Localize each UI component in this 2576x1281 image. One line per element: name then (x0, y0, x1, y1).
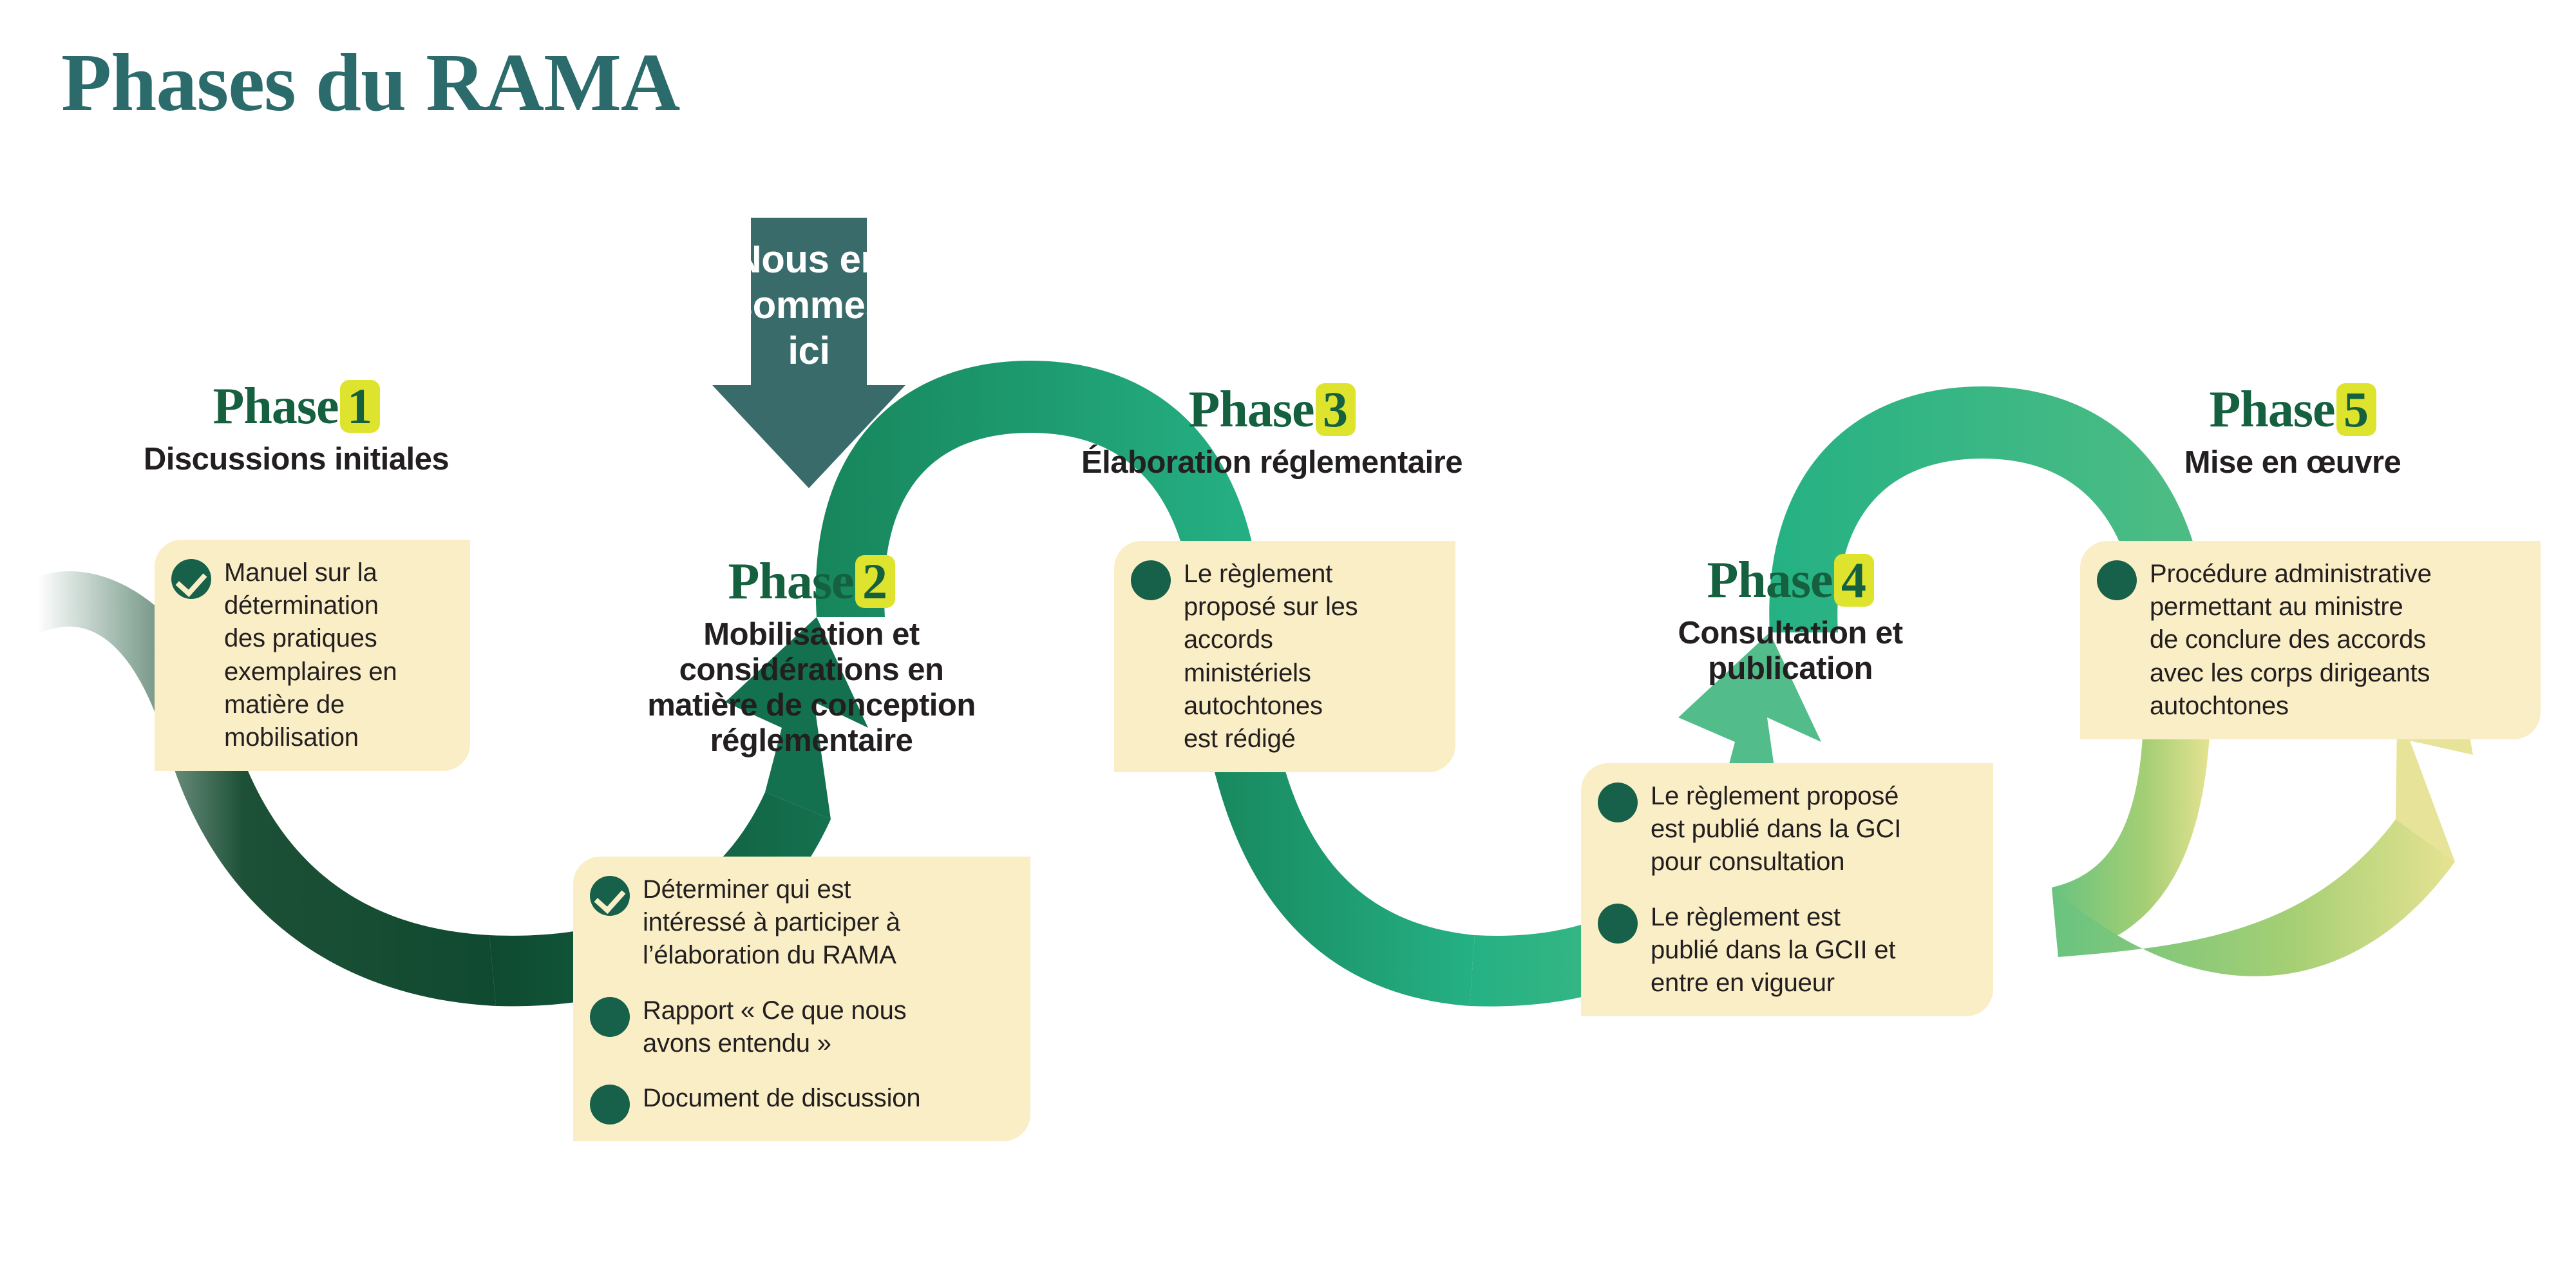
phase-heading-5: Phase 5 Mise en œuvre (2067, 383, 2518, 480)
bullet-text: Déterminer qui est intéressé à participe… (643, 873, 900, 973)
list-item: Le règlement proposé sur les accords min… (1131, 558, 1436, 755)
phase-number-4: 4 (1841, 555, 1866, 605)
phase-card-5: Procédure administrative permettant au m… (2080, 541, 2541, 739)
page-title: Phases du RAMA (61, 35, 679, 130)
phase-title-row-4: Phase 4 (1578, 554, 2003, 607)
phase-number-badge-2: 2 (855, 555, 895, 608)
phase-word-3: Phase (1189, 384, 1314, 435)
list-item: Document de discussion (590, 1082, 1011, 1124)
dot-circle-icon (590, 997, 630, 1037)
dot-circle-icon (590, 1085, 630, 1124)
phase-heading-4: Phase 4 Consultation et publication (1578, 554, 2003, 687)
phase-heading-1: Phase 1 Discussions initiales (97, 380, 496, 477)
you-are-here-marker: Nous en sommes ici (712, 218, 905, 488)
bullet-text: Document de discussion (643, 1082, 920, 1115)
phase-card-4: Le règlement proposé est publié dans la … (1581, 763, 1993, 1016)
phase-title-row-5: Phase 5 (2067, 383, 2518, 436)
phase-card-2: Déterminer qui est intéressé à participe… (573, 857, 1030, 1141)
infographic-canvas: Phases du RAMA Nous en sommes ici Phase … (0, 0, 2576, 1281)
phase-number-5: 5 (2344, 384, 2369, 435)
list-item: Procédure administrative permettant au m… (2097, 558, 2521, 723)
list-item: Rapport « Ce que nous avons entendu » (590, 994, 1011, 1060)
phase-subtitle-5: Mise en œuvre (2067, 445, 2518, 480)
phase-word-4: Phase (1707, 555, 1833, 606)
phase-number-badge-4: 4 (1834, 554, 1874, 607)
phase-subtitle-4: Consultation et publication (1578, 616, 2003, 687)
phase-number-badge-1: 1 (340, 380, 380, 433)
list-item: Manuel sur la détermination des pratique… (171, 556, 451, 754)
list-item: Le règlement proposé est publié dans la … (1598, 780, 1974, 879)
bullet-text: Procédure administrative permettant au m… (2150, 558, 2432, 723)
phase-number-2: 2 (862, 556, 887, 607)
phase-title-row-3: Phase 3 (1037, 383, 1507, 436)
bullet-text: Rapport « Ce que nous avons entendu » (643, 994, 906, 1060)
phase-number-badge-5: 5 (2336, 383, 2376, 436)
phase-number-1: 1 (347, 381, 372, 432)
phase-card-1: Manuel sur la détermination des pratique… (155, 540, 470, 771)
phase-title-row-1: Phase 1 (97, 380, 496, 433)
phase-number-3: 3 (1323, 384, 1348, 435)
dot-circle-icon (1598, 783, 1638, 822)
phase-title-row-2: Phase 2 (605, 555, 1018, 608)
list-item: Le règlement est publié dans la GCII et … (1598, 901, 1974, 1000)
phase-word-5: Phase (2210, 384, 2335, 435)
dot-circle-icon (2097, 560, 2137, 600)
phase-subtitle-2: Mobilisation et considérations en matièr… (605, 617, 1018, 759)
phase-heading-2: Phase 2 Mobilisation et considérations e… (605, 555, 1018, 759)
you-are-here-label: Nous en sommes ici (712, 237, 905, 374)
bullet-text: Le règlement est publié dans la GCII et … (1651, 901, 1895, 1000)
phase-subtitle-1: Discussions initiales (97, 442, 496, 477)
phase-card-3: Le règlement proposé sur les accords min… (1114, 541, 1455, 772)
list-item: Déterminer qui est intéressé à participe… (590, 873, 1011, 973)
phase-word-1: Phase (213, 381, 339, 432)
phase-word-2: Phase (728, 556, 854, 607)
ribbon-segment-8 (2052, 819, 2455, 976)
dot-circle-icon (1598, 904, 1638, 944)
dot-circle-icon (1131, 560, 1171, 600)
bullet-text: Manuel sur la détermination des pratique… (224, 556, 397, 754)
phase-subtitle-3: Élaboration réglementaire (1037, 445, 1507, 480)
bullet-text: Le règlement proposé est publié dans la … (1651, 780, 1901, 879)
check-circle-icon (590, 876, 630, 916)
bullet-text: Le règlement proposé sur les accords min… (1184, 558, 1358, 755)
check-circle-icon (171, 559, 211, 599)
phase-number-badge-3: 3 (1316, 383, 1356, 436)
phase-heading-3: Phase 3 Élaboration réglementaire (1037, 383, 1507, 480)
